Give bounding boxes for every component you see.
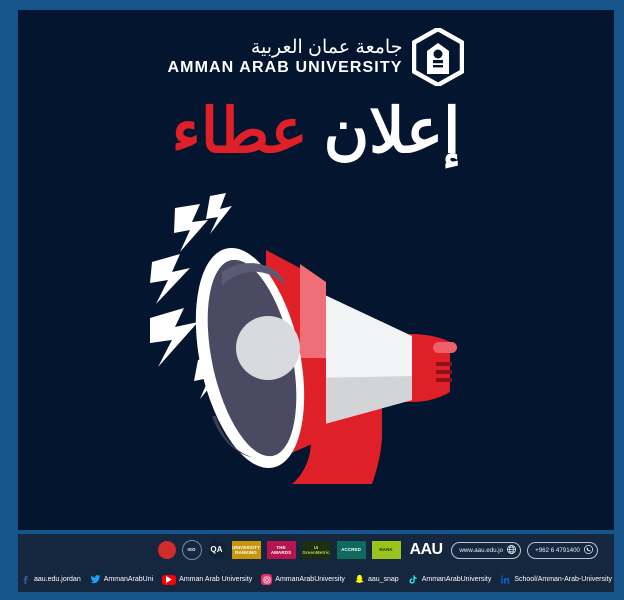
logo-english-name: AMMAN ARAB UNIVERSITY bbox=[168, 60, 403, 76]
social-link-snapchat[interactable]: aau_snap bbox=[354, 574, 399, 585]
megaphone-cone-highlight bbox=[236, 316, 300, 380]
social-link-twitter[interactable]: AmmanArabUni bbox=[90, 574, 153, 585]
accreditation-row: ISO QA UNIVERSITY RANKING THE AWARDS UI … bbox=[18, 538, 614, 562]
social-handle: AmmanArabUniversity bbox=[422, 576, 492, 583]
accred-badge-accreditation: ACCRED bbox=[337, 541, 366, 559]
accred-badge-label: QA bbox=[210, 545, 222, 554]
accred-badge-quality-seal bbox=[158, 541, 176, 559]
poster-canvas: جامعة عمان العربية AMMAN ARAB UNIVERSITY… bbox=[18, 10, 614, 592]
accred-badge-label: ISO bbox=[188, 547, 196, 552]
phone-icon bbox=[583, 544, 594, 557]
globe-icon bbox=[506, 544, 517, 557]
accred-badge-university-ranking: UNIVERSITY RANKING bbox=[232, 541, 261, 559]
social-handle: AmmanArabUni bbox=[104, 576, 153, 583]
youtube-icon bbox=[162, 575, 176, 585]
snapchat-icon bbox=[354, 574, 365, 585]
title-word-ataa: عطاء bbox=[172, 101, 308, 163]
social-link-facebook[interactable]: aau.edu.jordan bbox=[20, 574, 81, 585]
poster-root: جامعة عمان العربية AMMAN ARAB UNIVERSITY… bbox=[0, 0, 624, 600]
accred-badge-label: THE AWARDS bbox=[268, 545, 295, 555]
accred-badge-label: UNIVERSITY RANKING bbox=[232, 545, 260, 555]
footer-bar: ISO QA UNIVERSITY RANKING THE AWARDS UI … bbox=[18, 530, 614, 592]
social-handle: AmmanArabUniversity bbox=[275, 576, 345, 583]
accred-badge-iso: ISO bbox=[182, 540, 202, 560]
social-handle: Amman Arab University bbox=[179, 576, 252, 583]
facebook-icon bbox=[20, 574, 31, 585]
phone-text: +962 6 4791400 bbox=[535, 547, 580, 554]
website-pill[interactable]: www.aau.edu.jo bbox=[451, 542, 521, 559]
university-logo: جامعة عمان العربية AMMAN ARAB UNIVERSITY bbox=[18, 24, 614, 90]
social-link-instagram[interactable]: AmmanArabUniversity bbox=[261, 574, 345, 585]
accred-badge-tie: THE AWARDS bbox=[267, 541, 296, 559]
website-text: www.aau.edu.jo bbox=[459, 547, 503, 554]
phone-pill[interactable]: +962 6 4791400 bbox=[527, 542, 598, 559]
accred-badge-green-rank: RANK bbox=[372, 541, 401, 559]
linkedin-icon bbox=[500, 574, 511, 585]
accred-badge-label: ACCRED bbox=[341, 547, 361, 552]
twitter-icon bbox=[90, 574, 101, 585]
accred-badge-ui-greenmetric: UI GreenMetric bbox=[302, 541, 331, 559]
aau-wordmark: AAU bbox=[410, 541, 443, 559]
social-handle: School/Amman-Arab-University bbox=[514, 576, 612, 583]
megaphone-illustration bbox=[150, 190, 510, 500]
accred-badge-qa: QA bbox=[208, 541, 226, 559]
hexagon-arch-logo-icon bbox=[412, 28, 464, 86]
accred-badge-label: UI GreenMetric bbox=[302, 545, 329, 555]
social-handle: aau.edu.jordan bbox=[34, 576, 81, 583]
title-word-elan: إعلان bbox=[324, 101, 461, 163]
social-link-tiktok[interactable]: AmmanArabUniversity bbox=[408, 574, 492, 585]
social-links-row: aau.edu.jordan AmmanArabUni Amman Arab U… bbox=[18, 574, 614, 585]
social-link-linkedin[interactable]: School/Amman-Arab-University bbox=[500, 574, 612, 585]
social-link-youtube[interactable]: Amman Arab University bbox=[162, 575, 252, 585]
instagram-icon bbox=[261, 574, 272, 585]
logo-arabic-name: جامعة عمان العربية bbox=[251, 38, 403, 60]
logo-text-block: جامعة عمان العربية AMMAN ARAB UNIVERSITY bbox=[168, 38, 403, 76]
accred-badge-label: RANK bbox=[379, 547, 392, 552]
social-handle: aau_snap bbox=[368, 576, 399, 583]
tiktok-icon bbox=[408, 574, 419, 585]
page-title: إعلان عطاء bbox=[18, 96, 614, 168]
